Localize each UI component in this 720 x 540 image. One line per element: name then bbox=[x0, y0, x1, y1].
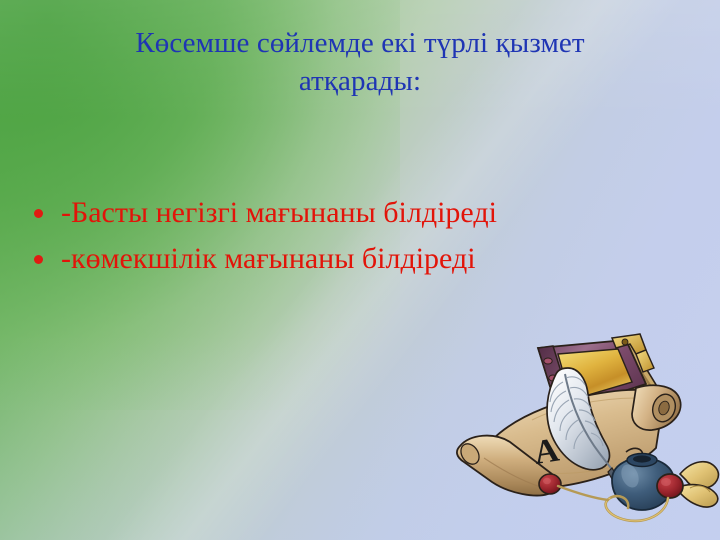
slide-title-line-1: Көсемше сөйлемде екі түрлі қызмет bbox=[46, 24, 674, 62]
bullet-item-label: -Басты негізгі мағынаны білдіреді bbox=[61, 196, 497, 230]
bullet-dot-icon bbox=[34, 255, 43, 264]
slide-title-line-2: атқарады: bbox=[46, 62, 674, 100]
antique-writing-set-illustration: A bbox=[440, 328, 720, 540]
bullet-list: -Басты негізгі мағынаны білдіреді -көмек… bbox=[34, 196, 694, 288]
presentation-slide: Көсемше сөйлемде екі түрлі қызмет атқара… bbox=[0, 0, 720, 540]
slide-title: Көсемше сөйлемде екі түрлі қызмет атқара… bbox=[46, 24, 674, 100]
bullet-item-label: -көмекшілік мағынаны білдіреді bbox=[61, 242, 476, 276]
list-item: -Басты негізгі мағынаны білдіреді bbox=[34, 196, 694, 230]
bullet-dot-icon bbox=[34, 209, 43, 218]
list-item: -көмекшілік мағынаны білдіреді bbox=[34, 242, 694, 276]
